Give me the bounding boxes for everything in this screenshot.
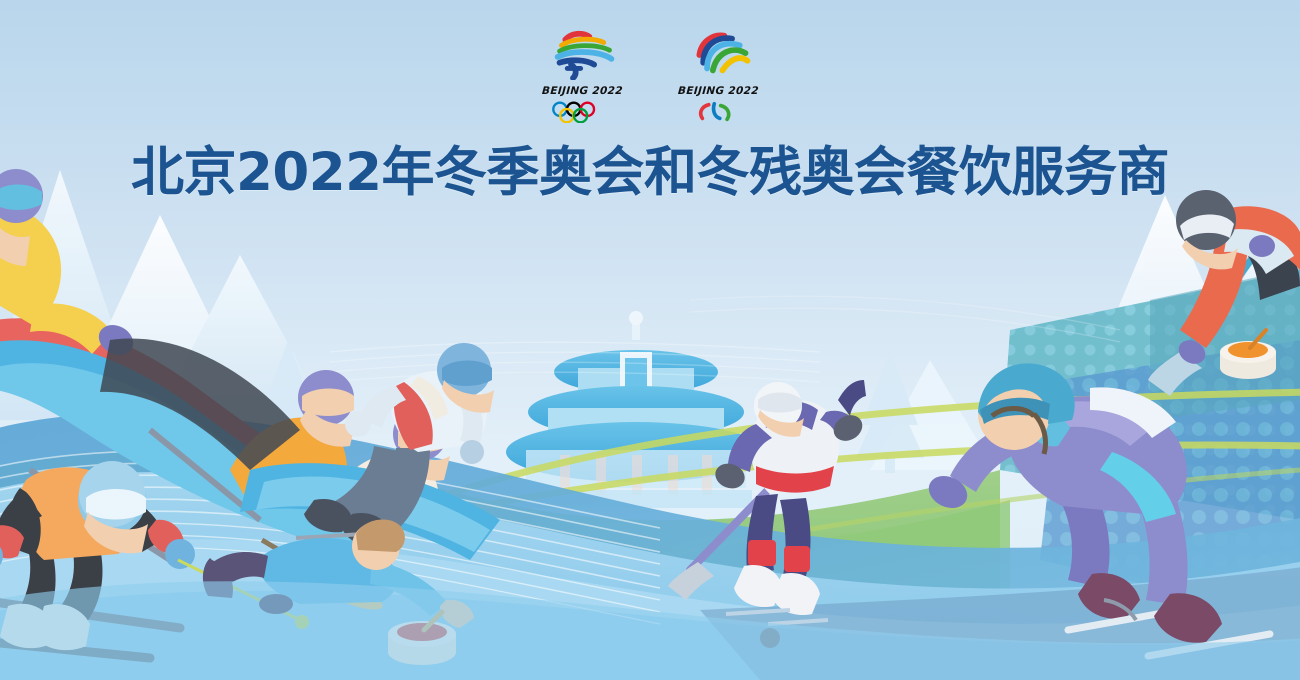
beijing-2022-catering-service-banner: BEIJING 2022 BEIJING 2022: [0, 0, 1300, 680]
paralympic-emblem-wordmark: BEIJING 2022: [677, 85, 759, 97]
paralympic-agitos-icon: [684, 101, 752, 123]
olympic-emblem-mark: [548, 30, 615, 80]
ice-hockey-player-illustration: [668, 380, 867, 648]
beijing-2022-olympic-emblem: BEIJING 2022: [537, 30, 627, 123]
curling-sweeper-illustration: [1148, 190, 1300, 396]
olympic-emblem-wordmark: BEIJING 2022: [541, 85, 623, 97]
emblem-row: BEIJING 2022 BEIJING 2022: [0, 30, 1300, 123]
page-title: 北京2022年冬季奥会和冬残奥会餐饮服务商: [0, 142, 1300, 204]
olympic-rings-icon: [548, 101, 616, 123]
speed-skater-illustration: [924, 363, 1270, 656]
paralympic-emblem-mark: [684, 30, 751, 80]
curling-stone-orange: [1220, 330, 1276, 379]
beijing-2022-paralympic-emblem: BEIJING 2022: [673, 30, 763, 123]
